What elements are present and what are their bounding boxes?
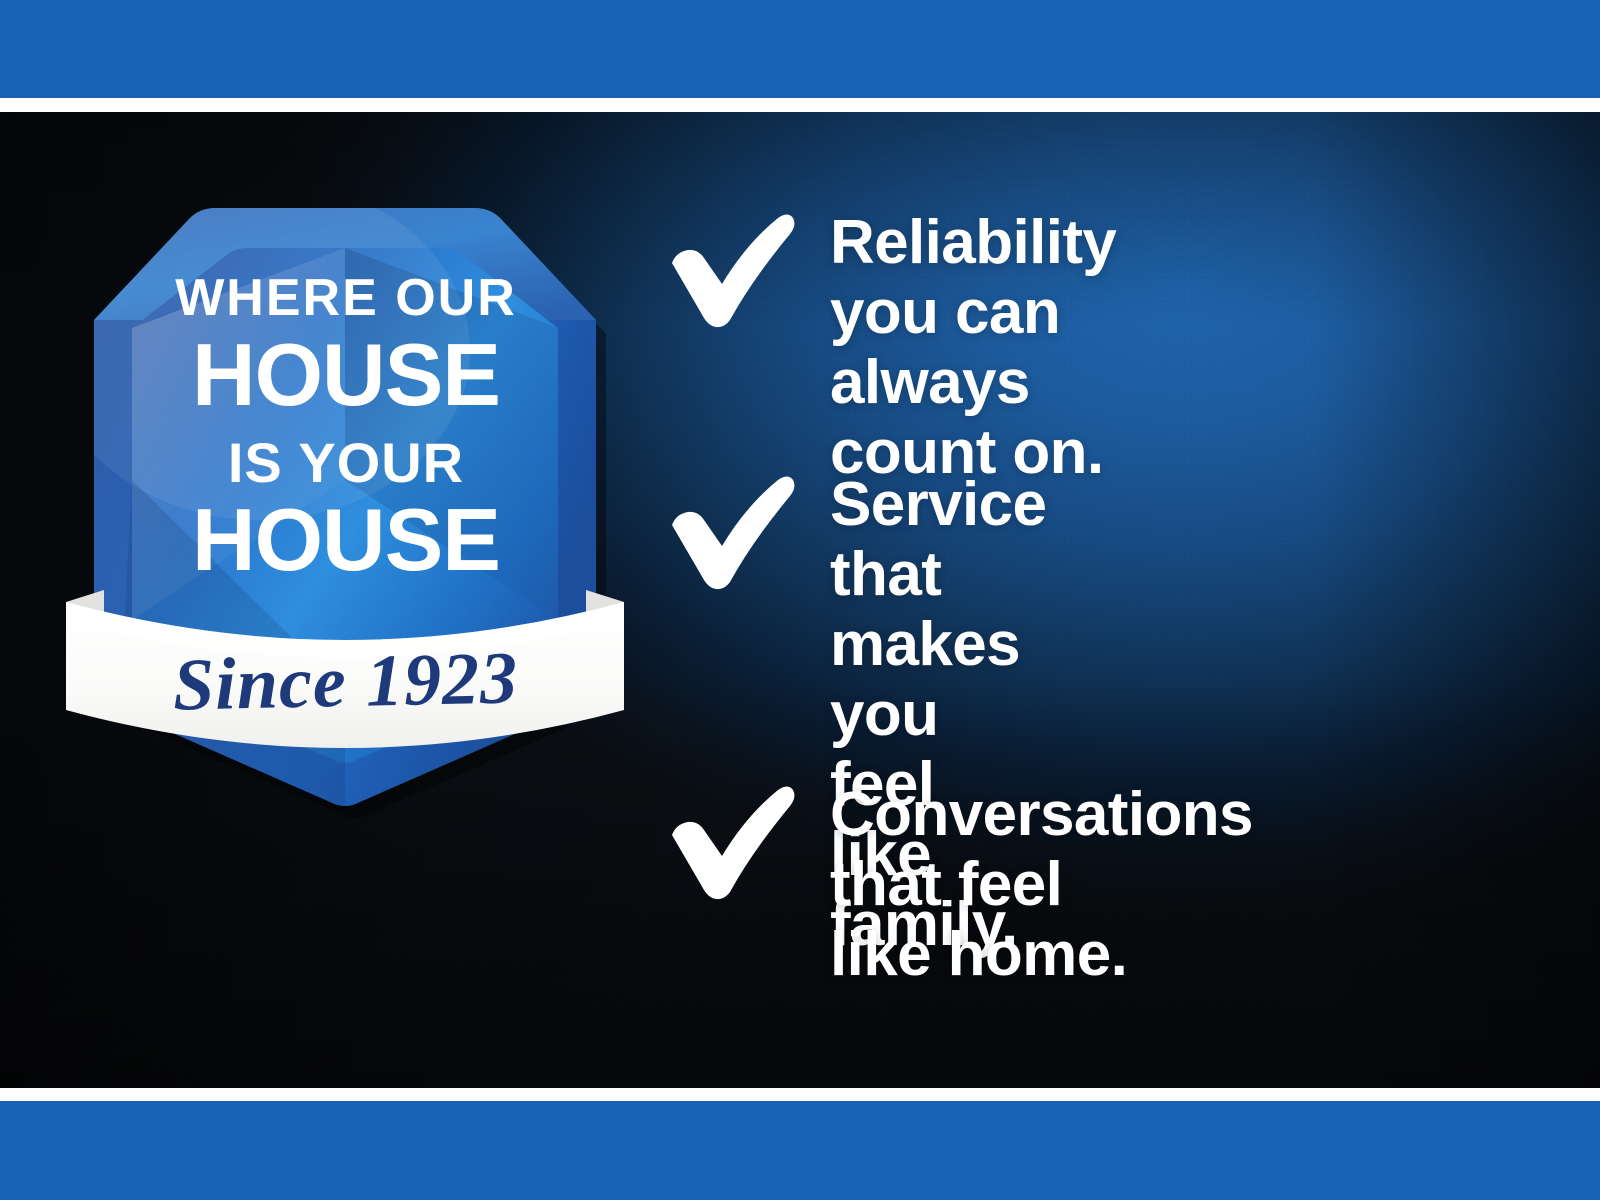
checkmark-icon: [660, 780, 800, 900]
shield-logo: WHERE OUR HOUSE IS YOUR HOUSE Since 1923: [60, 150, 630, 830]
bottom-white-divider: [0, 1088, 1600, 1101]
bottom-brand-bar: [0, 1101, 1600, 1200]
benefit-text-1: Reliability you can always count on.: [830, 208, 1116, 488]
benefit-text-3: Conversations that feel like home.: [830, 780, 1253, 990]
shield-line-2: HOUSE: [192, 325, 500, 424]
shield-line-3: IS YOUR: [228, 431, 464, 494]
shield-line-4: HOUSE: [192, 490, 500, 589]
top-white-divider: [0, 98, 1600, 112]
checkmark-icon: [660, 470, 800, 590]
ribbon-since-text: Since 1923: [172, 637, 519, 726]
top-brand-bar: [0, 0, 1600, 98]
shield-line-1: WHERE OUR: [175, 269, 517, 327]
checkmark-icon: [660, 208, 800, 328]
promo-graphic-canvas: WHERE OUR HOUSE IS YOUR HOUSE Since 1923…: [0, 0, 1600, 1200]
